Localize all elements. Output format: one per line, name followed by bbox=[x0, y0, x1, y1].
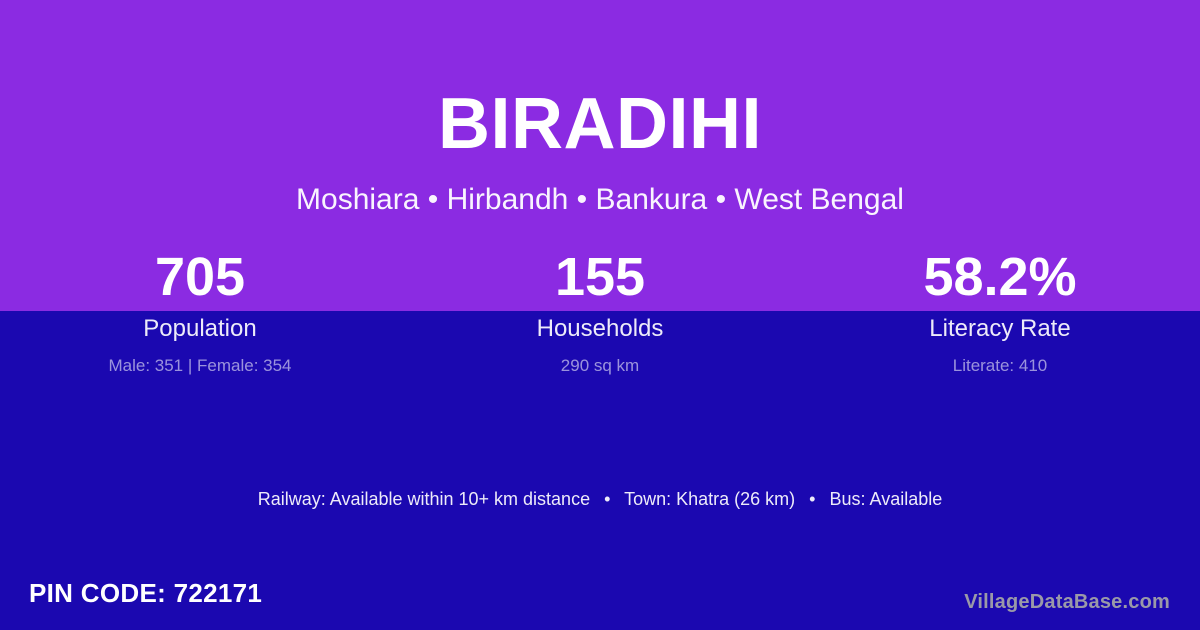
village-info-card: BIRADIHI Moshiara • Hirbandh • Bankura •… bbox=[0, 0, 1200, 630]
amenity-town: Town: Khatra (26 km) bbox=[624, 489, 795, 509]
amenity-separator: • bbox=[800, 486, 824, 512]
amenities-line: Railway: Available within 10+ km distanc… bbox=[0, 486, 1200, 512]
pin-code-label: PIN CODE: 722171 bbox=[29, 576, 262, 610]
stat-value: 155 bbox=[400, 246, 800, 308]
site-watermark: VillageDataBase.com bbox=[964, 589, 1170, 615]
stat-detail: Male: 351 | Female: 354 bbox=[0, 355, 400, 377]
stat-detail: 290 sq km bbox=[400, 355, 800, 377]
stat-literacy-rate: 58.2% Literacy Rate Literate: 410 bbox=[800, 246, 1200, 377]
amenity-railway: Railway: Available within 10+ km distanc… bbox=[258, 489, 590, 509]
amenity-separator: • bbox=[595, 486, 619, 512]
footer-section: PIN CODE: 722171 VillageDataBase.com bbox=[0, 570, 1200, 630]
page-title: BIRADIHI bbox=[0, 88, 1200, 160]
stats-row: 705 Population Male: 351 | Female: 354 1… bbox=[0, 246, 1200, 377]
stat-households: 155 Households 290 sq km bbox=[400, 246, 800, 377]
stat-value: 705 bbox=[0, 246, 400, 308]
stat-detail: Literate: 410 bbox=[800, 355, 1200, 377]
stat-label: Households bbox=[400, 314, 800, 344]
stat-value: 58.2% bbox=[800, 246, 1200, 308]
stat-label: Literacy Rate bbox=[800, 314, 1200, 344]
amenity-bus: Bus: Available bbox=[830, 489, 943, 509]
stat-label: Population bbox=[0, 314, 400, 344]
stat-population: 705 Population Male: 351 | Female: 354 bbox=[0, 246, 400, 377]
breadcrumb: Moshiara • Hirbandh • Bankura • West Ben… bbox=[0, 182, 1200, 218]
